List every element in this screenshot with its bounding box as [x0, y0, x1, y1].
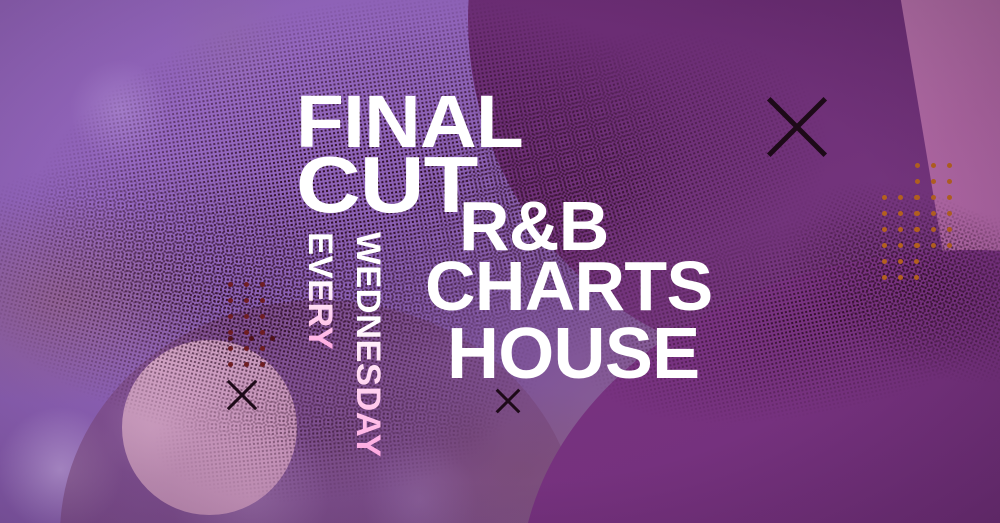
typography-block: FINAL CUT EVERY WEDNESDAY R&B CHARTS HOU…	[0, 0, 1000, 523]
recurrence-line1: EVERY	[303, 232, 337, 350]
event-title-line2: CUT	[296, 152, 477, 218]
event-flyer: FINAL CUT EVERY WEDNESDAY R&B CHARTS HOU…	[0, 0, 1000, 523]
genre-house: HOUSE	[447, 325, 699, 384]
genre-charts: CHARTS	[425, 258, 712, 315]
recurrence-line2: WEDNESDAY	[351, 232, 385, 457]
